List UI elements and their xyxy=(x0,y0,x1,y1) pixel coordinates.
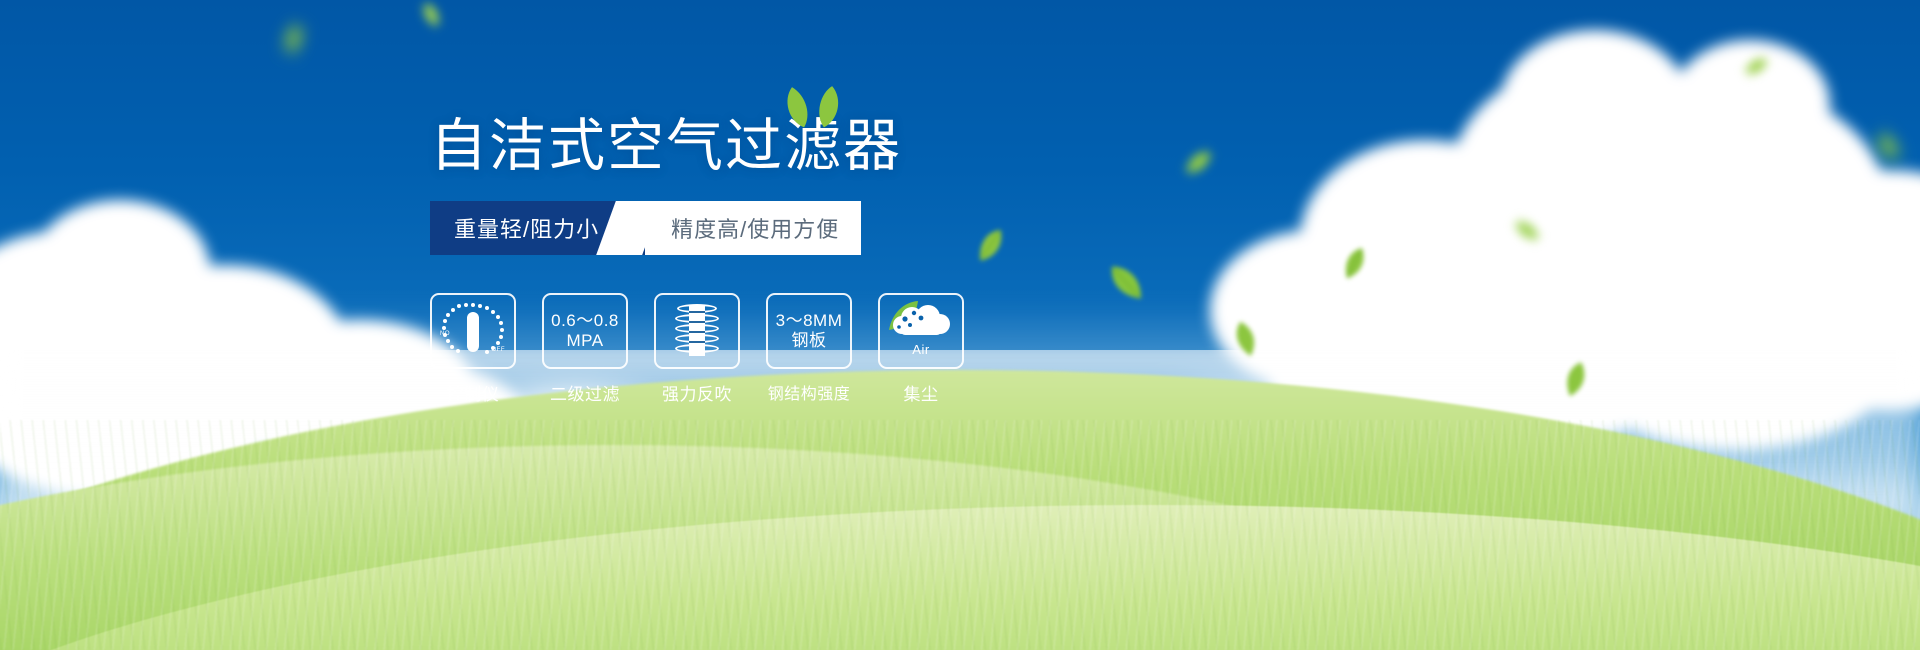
feature-text-line1: 0.6～0.8 xyxy=(551,311,619,331)
leaf-icon xyxy=(275,19,310,59)
steel-plate-text-icon: 3～8MM 钢板 xyxy=(776,311,843,351)
gauge-label-on: NO xyxy=(440,331,450,337)
title-leaves-icon xyxy=(775,84,845,130)
pressure-text-icon: 0.6～0.8 MPA xyxy=(551,311,619,351)
feature-text-line2: 钢板 xyxy=(776,331,843,351)
feature-item-controller[interactable]: NO OFF 控制仪 xyxy=(430,293,516,405)
air-cloud-label: Air xyxy=(912,342,929,357)
hero-banner: 自洁式空气过滤器 重量轻/阻力小 精度高/使用方便 xyxy=(0,0,1920,650)
feature-item-dust[interactable]: Air 集尘 xyxy=(878,293,964,405)
feature-text-line2: MPA xyxy=(551,331,619,351)
feature-list: NO OFF 控制仪 0.6～0.8 MPA 二级过滤 xyxy=(430,293,1070,405)
banner-content: 自洁式空气过滤器 重量轻/阻力小 精度高/使用方便 xyxy=(430,118,1070,405)
tagline-badge: 重量轻/阻力小 精度高/使用方便 xyxy=(430,201,861,255)
air-cloud-icon: Air xyxy=(888,301,954,361)
feature-icon-box: Air xyxy=(878,293,964,369)
feature-icon-box: NO OFF xyxy=(430,293,516,369)
feature-caption: 控制仪 xyxy=(447,380,500,405)
page-title: 自洁式空气过滤器 xyxy=(430,118,1070,175)
feature-caption: 二级过滤 xyxy=(550,380,620,405)
feature-text-line1: 3～8MM xyxy=(776,311,843,331)
leaf-icon xyxy=(415,0,448,33)
feature-caption: 集尘 xyxy=(904,380,939,405)
feature-item-backwash[interactable]: 强力反吹 xyxy=(654,293,740,405)
gauge-label-off: OFF xyxy=(492,347,506,353)
filter-stack-icon xyxy=(674,302,720,360)
tagline-right: 精度高/使用方便 xyxy=(645,201,861,255)
grass-texture xyxy=(0,420,1920,650)
gauge-needle xyxy=(467,312,479,352)
feature-icon-box xyxy=(654,293,740,369)
gauge-icon: NO OFF xyxy=(442,300,504,362)
feature-caption: 强力反吹 xyxy=(662,380,732,405)
feature-item-pressure[interactable]: 0.6～0.8 MPA 二级过滤 xyxy=(542,293,628,405)
feature-caption: 钢结构强度 xyxy=(768,380,851,404)
feature-icon-box: 0.6～0.8 MPA xyxy=(542,293,628,369)
feature-item-steel[interactable]: 3～8MM 钢板 钢结构强度 xyxy=(766,293,852,405)
feature-icon-box: 3～8MM 钢板 xyxy=(766,293,852,369)
